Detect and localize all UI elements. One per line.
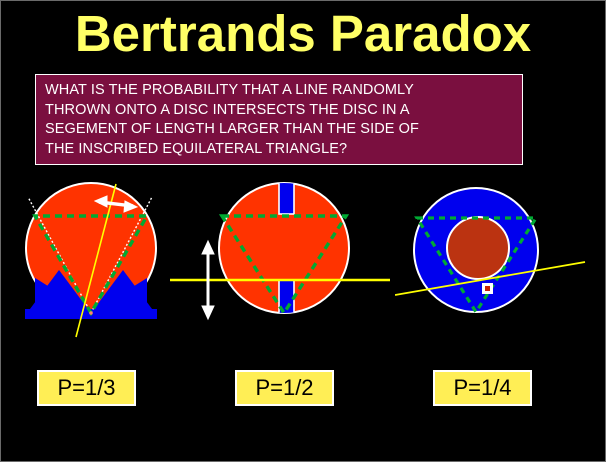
figure-random-radius: [170, 175, 390, 340]
question-line-4: THE INSCRIBED EQUILATERAL TRIANGLE?: [45, 140, 519, 160]
answer-box-1: P=1/3: [37, 370, 136, 406]
page-title: Bertrands Paradox: [0, 3, 606, 65]
question-line-2: THROWN ONTO A DISC INTERSECTS THE DISC I…: [45, 101, 519, 121]
answer-box-3: P=1/4: [433, 370, 532, 406]
figure-random-midpoint: [395, 175, 606, 340]
question-line-1: WHAT IS THE PROBABILITY THAT A LINE RAND…: [45, 81, 519, 101]
question-line-3: SEGEMENT OF LENGTH LARGER THAN THE SIDE …: [45, 120, 519, 140]
midpoint-marker-core-3: [485, 286, 490, 291]
vertex-marker-1: [89, 311, 93, 315]
answer-box-2: P=1/2: [235, 370, 334, 406]
question-text: WHAT IS THE PROBABILITY THAT A LINE RAND…: [45, 81, 519, 159]
favorable-region-3: [447, 217, 509, 279]
question-panel: WHAT IS THE PROBABILITY THAT A LINE RAND…: [35, 74, 523, 165]
slide-root: Bertrands Paradox WHAT IS THE PROBABILIT…: [0, 0, 606, 462]
